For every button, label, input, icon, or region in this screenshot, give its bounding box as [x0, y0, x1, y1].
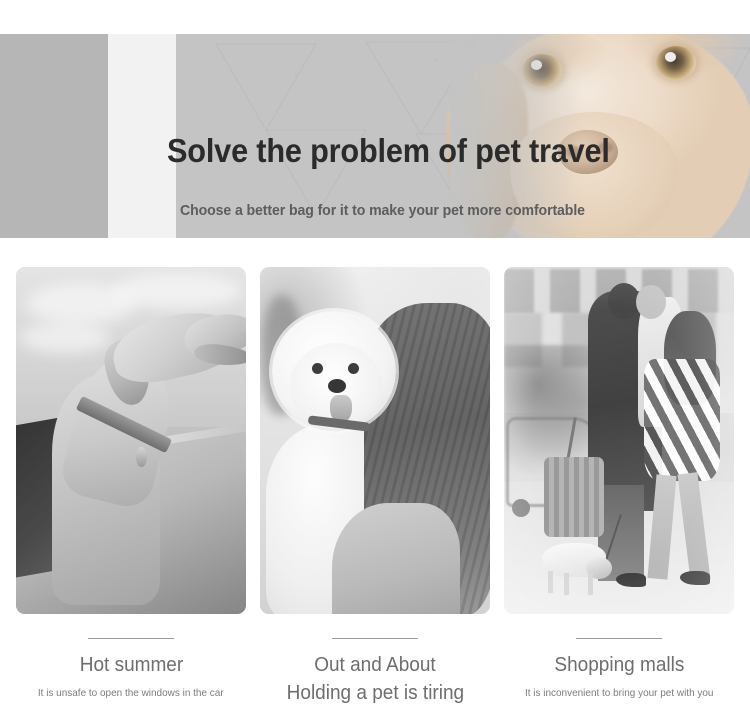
cloud-shape: [20, 323, 110, 353]
hero-light-band: [108, 34, 176, 238]
dog-eye-left: [312, 363, 323, 374]
card-title: Out and About: [314, 652, 435, 678]
card-photo-dog-in-car: [16, 267, 246, 614]
photo-vignette-overlay: [504, 267, 734, 614]
card-title-second-line: Holding a pet is tiring: [286, 680, 463, 707]
card-divider: [332, 638, 418, 639]
woman-shoulder-shape: [332, 503, 460, 614]
card-subtitle: It is inconvenient to bring your pet wit…: [525, 686, 714, 701]
hero-banner: Solve the problem of pet travel Choose a…: [0, 34, 750, 238]
hero-subtitle: Choose a better bag for it to make your …: [180, 200, 585, 222]
dog-eye-right: [348, 363, 359, 374]
card-photo-woman-with-dog: [260, 267, 490, 614]
card-subtitle: It is unsafe to open the windows in the …: [38, 686, 224, 701]
hero-title: Solve the problem of pet travel: [167, 131, 610, 171]
card-title: Shopping malls: [554, 652, 684, 678]
dog-nose-shape: [328, 379, 346, 393]
card-title: Hot summer: [79, 652, 182, 678]
feature-card-hot-summer[interactable]: Hot summer It is unsafe to open the wind…: [16, 267, 246, 707]
page-root: Solve the problem of pet travel Choose a…: [0, 0, 750, 727]
dog-eye-right: [656, 46, 696, 79]
hero-left-gray-band: [0, 34, 108, 238]
card-divider: [88, 638, 174, 639]
dog-tag-shape: [136, 447, 147, 467]
feature-cards-row: Hot summer It is unsafe to open the wind…: [0, 267, 750, 707]
cloud-shape: [112, 273, 242, 309]
feature-card-out-and-about[interactable]: Out and About Holding a pet is tiring: [260, 267, 490, 707]
card-photo-airport-crowd: [504, 267, 734, 614]
card-divider: [576, 638, 662, 639]
feature-card-shopping-malls[interactable]: Shopping malls It is inconvenient to bri…: [504, 267, 734, 707]
